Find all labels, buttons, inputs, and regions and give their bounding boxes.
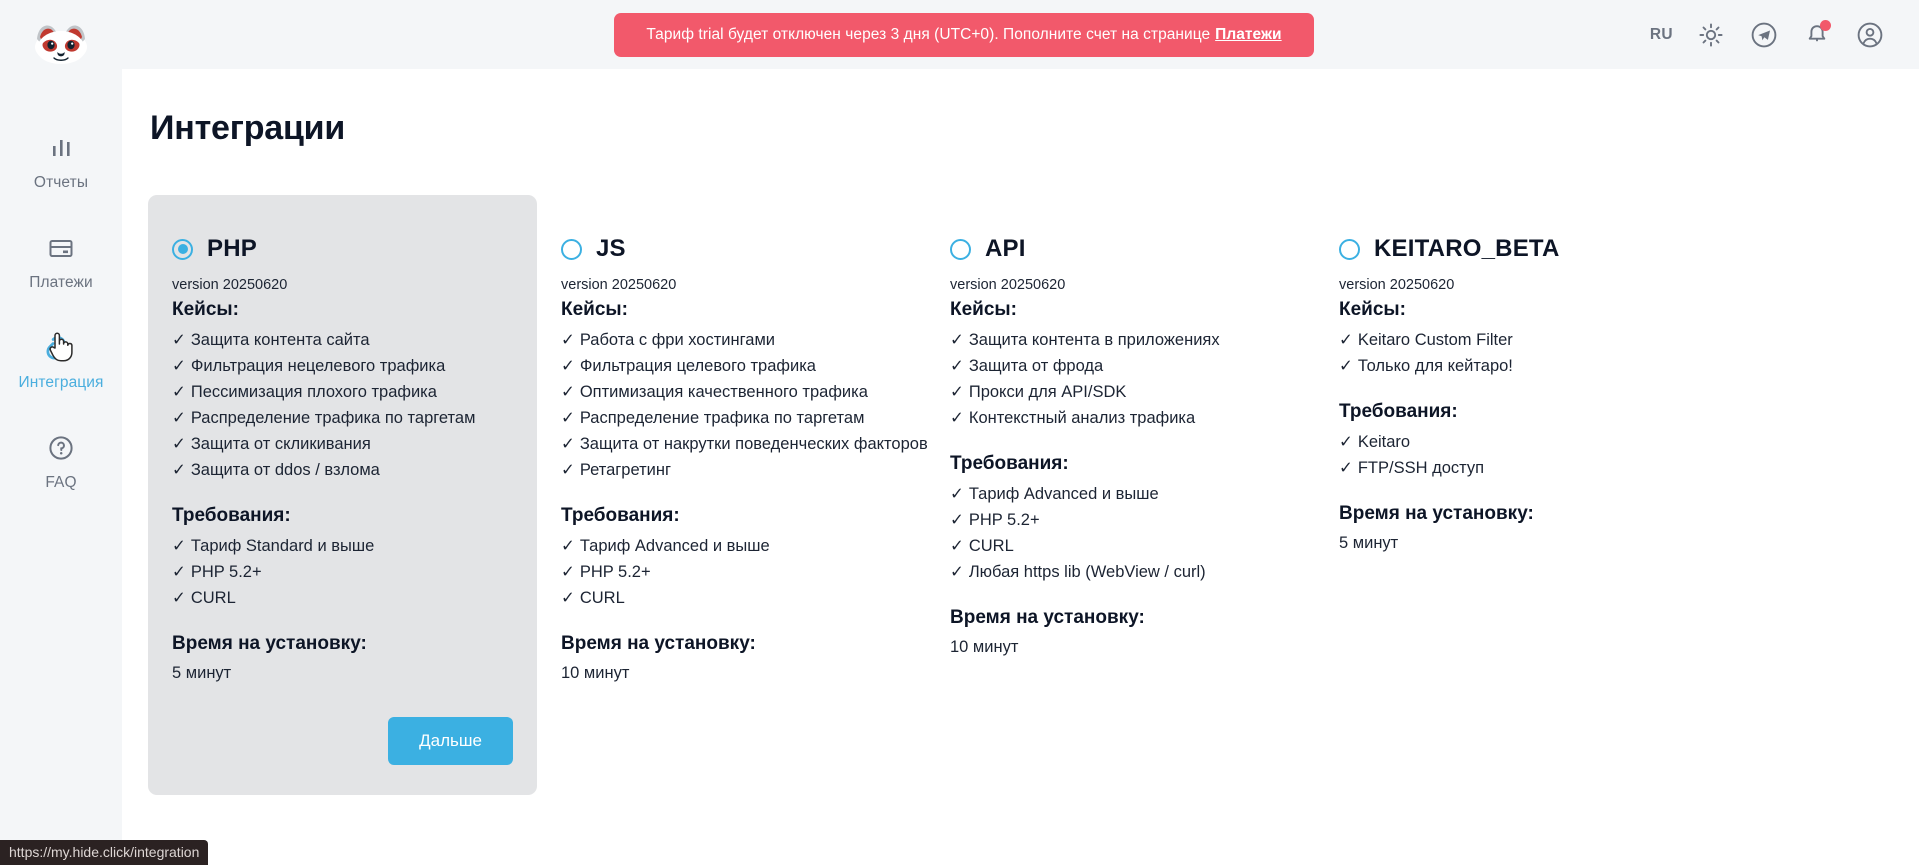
list-item: ✓Защита от фрода xyxy=(950,353,1291,379)
requirements-heading: Требования: xyxy=(950,453,1291,475)
sidebar: Отчеты Платежи xyxy=(0,0,122,865)
install-time-heading: Время на установку: xyxy=(561,633,902,655)
check-icon: ✓ xyxy=(172,409,186,427)
check-icon: ✓ xyxy=(950,563,964,581)
link-chain-icon xyxy=(44,331,78,365)
install-time-heading: Время на установку: xyxy=(950,607,1291,629)
requirements-list: ✓Тариф Advanced и выше ✓PHP 5.2+ ✓CURL xyxy=(561,533,902,611)
check-icon: ✓ xyxy=(172,357,186,375)
cases-list: ✓Keitaro Custom Filter ✓Только для кейта… xyxy=(1339,327,1680,379)
bell-icon[interactable] xyxy=(1802,20,1832,50)
list-item: ✓CURL xyxy=(561,585,902,611)
check-icon: ✓ xyxy=(561,563,575,581)
trial-warning-banner: Тариф trial будет отключен через 3 дня (… xyxy=(614,13,1314,57)
card-header: API xyxy=(950,235,1291,263)
app-root: Отчеты Платежи xyxy=(0,0,1919,865)
raccoon-logo[interactable] xyxy=(0,10,122,78)
check-icon: ✓ xyxy=(172,435,186,453)
integration-card-php[interactable]: PHP version 20250620 Кейсы: ✓Защита конт… xyxy=(148,195,537,795)
list-item: ✓Пессимизация плохого трафика xyxy=(172,379,513,405)
list-item: ✓CURL xyxy=(172,585,513,611)
check-icon: ✓ xyxy=(950,485,964,503)
radio-keitaro-beta[interactable] xyxy=(1339,239,1360,260)
main-area: Тариф trial будет отключен через 3 дня (… xyxy=(122,0,1919,865)
sidebar-item-label: Платежи xyxy=(29,274,93,292)
sun-icon[interactable] xyxy=(1696,20,1726,50)
sidebar-nav: Отчеты Платежи xyxy=(0,120,122,502)
check-icon: ✓ xyxy=(950,511,964,529)
list-item: ✓PHP 5.2+ xyxy=(172,559,513,585)
check-icon: ✓ xyxy=(172,537,186,555)
banner-payments-link[interactable]: Платежи xyxy=(1215,26,1281,44)
check-icon: ✓ xyxy=(1339,433,1353,451)
sidebar-item-label: FAQ xyxy=(45,474,76,492)
raccoon-logo-icon xyxy=(32,21,90,67)
list-item: ✓Тариф Advanced и выше xyxy=(950,481,1291,507)
card-version: version 20250620 xyxy=(172,277,513,293)
list-item: ✓Распределение трафика по таргетам xyxy=(172,405,513,431)
check-icon: ✓ xyxy=(1339,459,1353,477)
list-item: ✓Защита от накрутки поведенческих фактор… xyxy=(561,431,902,457)
next-button[interactable]: Дальше xyxy=(388,717,513,765)
check-icon: ✓ xyxy=(172,589,186,607)
card-actions: Дальше xyxy=(172,717,513,765)
list-item: ✓Работа с фри хостингами xyxy=(561,327,902,353)
list-item: ✓Любая https lib (WebView / curl) xyxy=(950,559,1291,585)
cases-list: ✓Защита контента в приложениях ✓Защита о… xyxy=(950,327,1291,431)
card-version: version 20250620 xyxy=(950,277,1291,293)
cases-list: ✓Работа с фри хостингами ✓Фильтрация цел… xyxy=(561,327,902,483)
list-item: ✓Защита контента в приложениях xyxy=(950,327,1291,353)
status-bar-url: https://my.hide.click/integration xyxy=(0,840,208,865)
list-item: ✓Защита контента сайта xyxy=(172,327,513,353)
requirements-heading: Требования: xyxy=(1339,401,1680,423)
list-item: ✓Ретагретинг xyxy=(561,457,902,483)
notification-dot xyxy=(1820,20,1831,31)
install-time-heading: Время на установку: xyxy=(1339,503,1680,525)
list-item: ✓Тариф Advanced и выше xyxy=(561,533,902,559)
radio-php[interactable] xyxy=(172,239,193,260)
requirements-list: ✓Keitaro ✓FTP/SSH доступ xyxy=(1339,429,1680,481)
install-time-value: 10 минут xyxy=(561,661,902,685)
check-icon: ✓ xyxy=(950,537,964,555)
list-item: ✓Прокси для API/SDK xyxy=(950,379,1291,405)
requirements-heading: Требования: xyxy=(172,505,513,527)
check-icon: ✓ xyxy=(561,461,575,479)
list-item: ✓Фильтрация целевого трафика xyxy=(561,353,902,379)
integration-card-js[interactable]: JS version 20250620 Кейсы: ✓Работа с фри… xyxy=(537,195,926,709)
check-icon: ✓ xyxy=(950,331,964,349)
sidebar-item-label: Отчеты xyxy=(34,174,88,192)
topbar-actions: RU xyxy=(1650,20,1885,50)
list-item: ✓Только для кейтаро! xyxy=(1339,353,1680,379)
requirements-list: ✓Тариф Standard и выше ✓PHP 5.2+ ✓CURL xyxy=(172,533,513,611)
list-item: ✓FTP/SSH доступ xyxy=(1339,455,1680,481)
cases-heading: Кейсы: xyxy=(561,299,902,321)
list-item: ✓Защита от ddos / взлома xyxy=(172,457,513,483)
check-icon: ✓ xyxy=(561,537,575,555)
integration-card-keitaro-beta[interactable]: KEITARO_BETA version 20250620 Кейсы: ✓Ke… xyxy=(1315,195,1704,579)
check-icon: ✓ xyxy=(172,461,186,479)
credit-card-icon xyxy=(44,231,78,265)
requirements-heading: Требования: xyxy=(561,505,902,527)
sidebar-item-integraciya[interactable]: Интеграция xyxy=(0,320,122,402)
integration-card-api[interactable]: API version 20250620 Кейсы: ✓Защита конт… xyxy=(926,195,1315,683)
check-icon: ✓ xyxy=(1339,331,1353,349)
cases-heading: Кейсы: xyxy=(950,299,1291,321)
check-icon: ✓ xyxy=(561,409,575,427)
check-icon: ✓ xyxy=(561,357,575,375)
list-item: ✓Контекстный анализ трафика xyxy=(950,405,1291,431)
check-icon: ✓ xyxy=(561,435,575,453)
card-header: KEITARO_BETA xyxy=(1339,235,1680,263)
card-version: version 20250620 xyxy=(1339,277,1680,293)
list-item: ✓Распределение трафика по таргетам xyxy=(561,405,902,431)
telegram-icon[interactable] xyxy=(1749,20,1779,50)
card-title: KEITARO_BETA xyxy=(1374,235,1560,263)
list-item: ✓Тариф Standard и выше xyxy=(172,533,513,559)
user-avatar-icon[interactable] xyxy=(1855,20,1885,50)
install-time-value: 10 минут xyxy=(950,635,1291,659)
topbar: Тариф trial будет отключен через 3 дня (… xyxy=(122,0,1919,69)
card-header: JS xyxy=(561,235,902,263)
install-time-value: 5 минут xyxy=(172,661,513,685)
banner-text: Тариф trial будет отключен через 3 дня (… xyxy=(646,26,1210,44)
list-item: ✓Оптимизация качественного трафика xyxy=(561,379,902,405)
page-title: Интеграции xyxy=(150,109,1919,148)
list-item: ✓PHP 5.2+ xyxy=(561,559,902,585)
check-icon: ✓ xyxy=(561,589,575,607)
sidebar-item-faq[interactable]: FAQ xyxy=(0,420,122,502)
card-title: PHP xyxy=(207,235,257,263)
question-circle-icon xyxy=(44,431,78,465)
bar-chart-icon xyxy=(44,131,78,165)
sidebar-item-label: Интеграция xyxy=(18,374,103,392)
list-item: ✓Keitaro Custom Filter xyxy=(1339,327,1680,353)
check-icon: ✓ xyxy=(950,409,964,427)
cases-list: ✓Защита контента сайта ✓Фильтрация нецел… xyxy=(172,327,513,483)
sidebar-item-otchety[interactable]: Отчеты xyxy=(0,120,122,202)
radio-js[interactable] xyxy=(561,239,582,260)
card-title: API xyxy=(985,235,1026,263)
list-item: ✓CURL xyxy=(950,533,1291,559)
page-content: Интеграции PHP version 20250620 Кейсы: ✓… xyxy=(122,69,1919,795)
check-icon: ✓ xyxy=(561,331,575,349)
card-title: JS xyxy=(596,235,626,263)
check-icon: ✓ xyxy=(172,331,186,349)
list-item: ✓Защита от скликивания xyxy=(172,431,513,457)
cases-heading: Кейсы: xyxy=(1339,299,1680,321)
check-icon: ✓ xyxy=(950,383,964,401)
list-item: ✓PHP 5.2+ xyxy=(950,507,1291,533)
check-icon: ✓ xyxy=(172,563,186,581)
check-icon: ✓ xyxy=(1339,357,1353,375)
install-time-value: 5 минут xyxy=(1339,531,1680,555)
requirements-list: ✓Тариф Advanced и выше ✓PHP 5.2+ ✓CURL ✓… xyxy=(950,481,1291,585)
card-version: version 20250620 xyxy=(561,277,902,293)
list-item: ✓Keitaro xyxy=(1339,429,1680,455)
install-time-heading: Время на установку: xyxy=(172,633,513,655)
check-icon: ✓ xyxy=(561,383,575,401)
language-switcher[interactable]: RU xyxy=(1650,26,1673,44)
cases-heading: Кейсы: xyxy=(172,299,513,321)
card-header: PHP xyxy=(172,235,513,263)
list-item: ✓Фильтрация нецелевого трафика xyxy=(172,353,513,379)
radio-api[interactable] xyxy=(950,239,971,260)
check-icon: ✓ xyxy=(950,357,964,375)
check-icon: ✓ xyxy=(172,383,186,401)
sidebar-item-platezhi[interactable]: Платежи xyxy=(0,220,122,302)
integration-cards: PHP version 20250620 Кейсы: ✓Защита конт… xyxy=(148,195,1919,795)
